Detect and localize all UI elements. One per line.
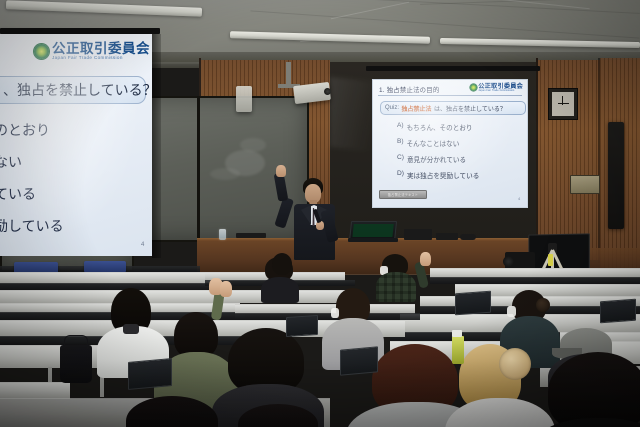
student-laptop[interactable]: [340, 346, 378, 375]
main-screen-housing: [366, 66, 540, 71]
student-laptop[interactable]: [286, 315, 318, 337]
bench-row: [0, 382, 70, 399]
left-slide-option: ている: [0, 184, 36, 204]
quiz-question-text: は、独占を禁止している？: [434, 104, 506, 113]
left-slide-option: 励している: [0, 216, 64, 236]
quiz-option-key: D): [397, 170, 404, 180]
quiz-option-text: そんなことはない: [407, 138, 460, 148]
wall-speaker: [608, 122, 624, 229]
jftc-logo-en: Japan Fair Trade Commission: [52, 56, 150, 61]
av-equipment: [436, 233, 458, 240]
left-slide-option: ない: [0, 152, 22, 172]
cable-coil: [460, 234, 476, 240]
projector-secondary: [236, 86, 252, 112]
main-slide-page-number: 4: [518, 196, 520, 201]
student-laptop[interactable]: [600, 299, 636, 324]
left-slide-question: 、独占を禁止している？: [1, 80, 152, 100]
projector-lens-icon: [324, 88, 331, 95]
quiz-question-bar: Quiz: 独占禁止法 は、独占を禁止している？: [380, 101, 526, 115]
beverage-bottle: [452, 336, 464, 364]
raised-hand: [220, 281, 232, 297]
small-bottle: [219, 229, 226, 240]
left-slide-option: のとおり: [0, 120, 50, 140]
desk-item: [236, 233, 266, 238]
quiz-option-d: D) 実は独占を奨励している: [397, 170, 479, 180]
lecture-hall-photo: 公正取引委員会 Japan Fair Trade Commission 、独占を…: [0, 0, 640, 427]
jftc-logo-icon: [470, 84, 477, 91]
wall-plaque: [570, 175, 600, 194]
hair-bun: [499, 348, 531, 380]
left-slide-page-number: 4: [141, 242, 144, 248]
quiz-option-key: C): [397, 154, 404, 164]
jftc-logo-main: 公正取引委員会 Japan Fair Trade Commission: [470, 84, 523, 93]
presenter-laptop-base: [348, 238, 398, 242]
backpack: [60, 345, 92, 383]
av-equipment: [404, 229, 432, 240]
student-laptop[interactable]: [455, 291, 491, 316]
main-slide-title: 1. 独占禁止法の目的: [379, 85, 439, 94]
student-laptop[interactable]: [128, 358, 172, 390]
left-slide-question-bar: 、独占を禁止している？: [0, 76, 146, 104]
quiz-option-text: 意見が分かれている: [407, 154, 466, 164]
quiz-option-a: A) もちろん、そのとおり: [397, 122, 473, 132]
quiz-option-text: 実は独占を奨励している: [407, 170, 479, 180]
wall-clock-icon: [548, 88, 578, 120]
jftc-logo-icon: [34, 44, 49, 59]
projector-mount: [286, 62, 291, 86]
slide-footer-button[interactable]: 独占禁止法テキスト: [379, 190, 427, 199]
quiz-option-c: C) 意見が分かれている: [397, 154, 466, 164]
quiz-option-b: B) そんなことはない: [397, 138, 459, 148]
quiz-highlight-term: 独占禁止法: [402, 104, 432, 113]
jftc-logo-left: 公正取引委員会 Japan Fair Trade Commission: [34, 42, 150, 61]
main-projection-slide: 1. 独占禁止法の目的 公正取引委員会 Japan Fair Trade Com…: [372, 79, 528, 208]
camera-lens-icon: [503, 256, 514, 267]
quiz-label: Quiz:: [385, 105, 399, 111]
quiz-option-text: もちろん、そのとおり: [407, 122, 473, 132]
jftc-logo-jp: 公正取引委員会: [52, 42, 150, 56]
quiz-option-key: B): [397, 138, 404, 148]
raised-hand: [420, 252, 431, 266]
presenter-raised-hand: [276, 165, 286, 177]
quiz-option-key: A): [397, 122, 404, 132]
jftc-logo-en: Japan Fair Trade Commission: [478, 90, 523, 93]
chair[interactable]: [84, 261, 126, 272]
left-projection-slide: 公正取引委員会 Japan Fair Trade Commission 、独占を…: [0, 34, 152, 256]
